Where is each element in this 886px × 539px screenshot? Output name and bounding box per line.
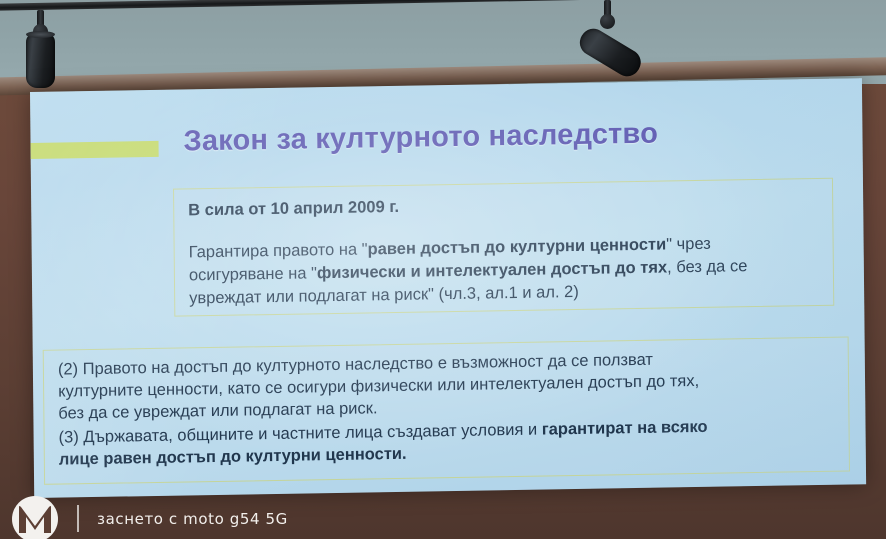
box-top-paragraph: Гарантира правото на "равен достъп до ку… <box>189 231 820 310</box>
camera-watermark: заснето с moto g54 5G <box>0 498 886 539</box>
text-run: Гарантира правото на " <box>189 240 368 261</box>
text-run: без да се увреждат или подлагат на риск. <box>58 399 377 422</box>
text-run-bold: равен достъп до културни ценности <box>367 235 666 258</box>
watermark-text: заснето с moto g54 5G <box>97 510 288 528</box>
text-run-bold: лице равен достъп до културни ценности. <box>59 445 407 469</box>
text-run-bold: физически и интелектуален достъп до тях <box>317 258 667 282</box>
motorola-m-logo-icon <box>12 496 58 539</box>
content-box-top: В сила от 10 април 2009 г. Гарантира пра… <box>173 178 834 317</box>
content-box-bottom: (2) Правото на достъп до културното насл… <box>43 336 850 484</box>
slide-title: Закон за културното наследство <box>183 118 658 159</box>
photo-scene: Закон за културното наследство В сила от… <box>0 0 886 539</box>
text-run: " чрез <box>666 235 711 254</box>
projection-area: Закон за културното наследство В сила от… <box>0 0 886 539</box>
text-run: осигуряване на " <box>189 264 317 284</box>
presentation-slide: Закон за културното наследство В сила от… <box>30 78 866 498</box>
text-run-bold: гарантират на всяко <box>542 418 708 439</box>
title-accent-bar <box>31 141 159 159</box>
text-run: увреждат или подлагат на риск" (чл.3, ал… <box>189 283 579 307</box>
text-run: , без да се <box>667 257 747 276</box>
watermark-divider <box>77 505 79 532</box>
